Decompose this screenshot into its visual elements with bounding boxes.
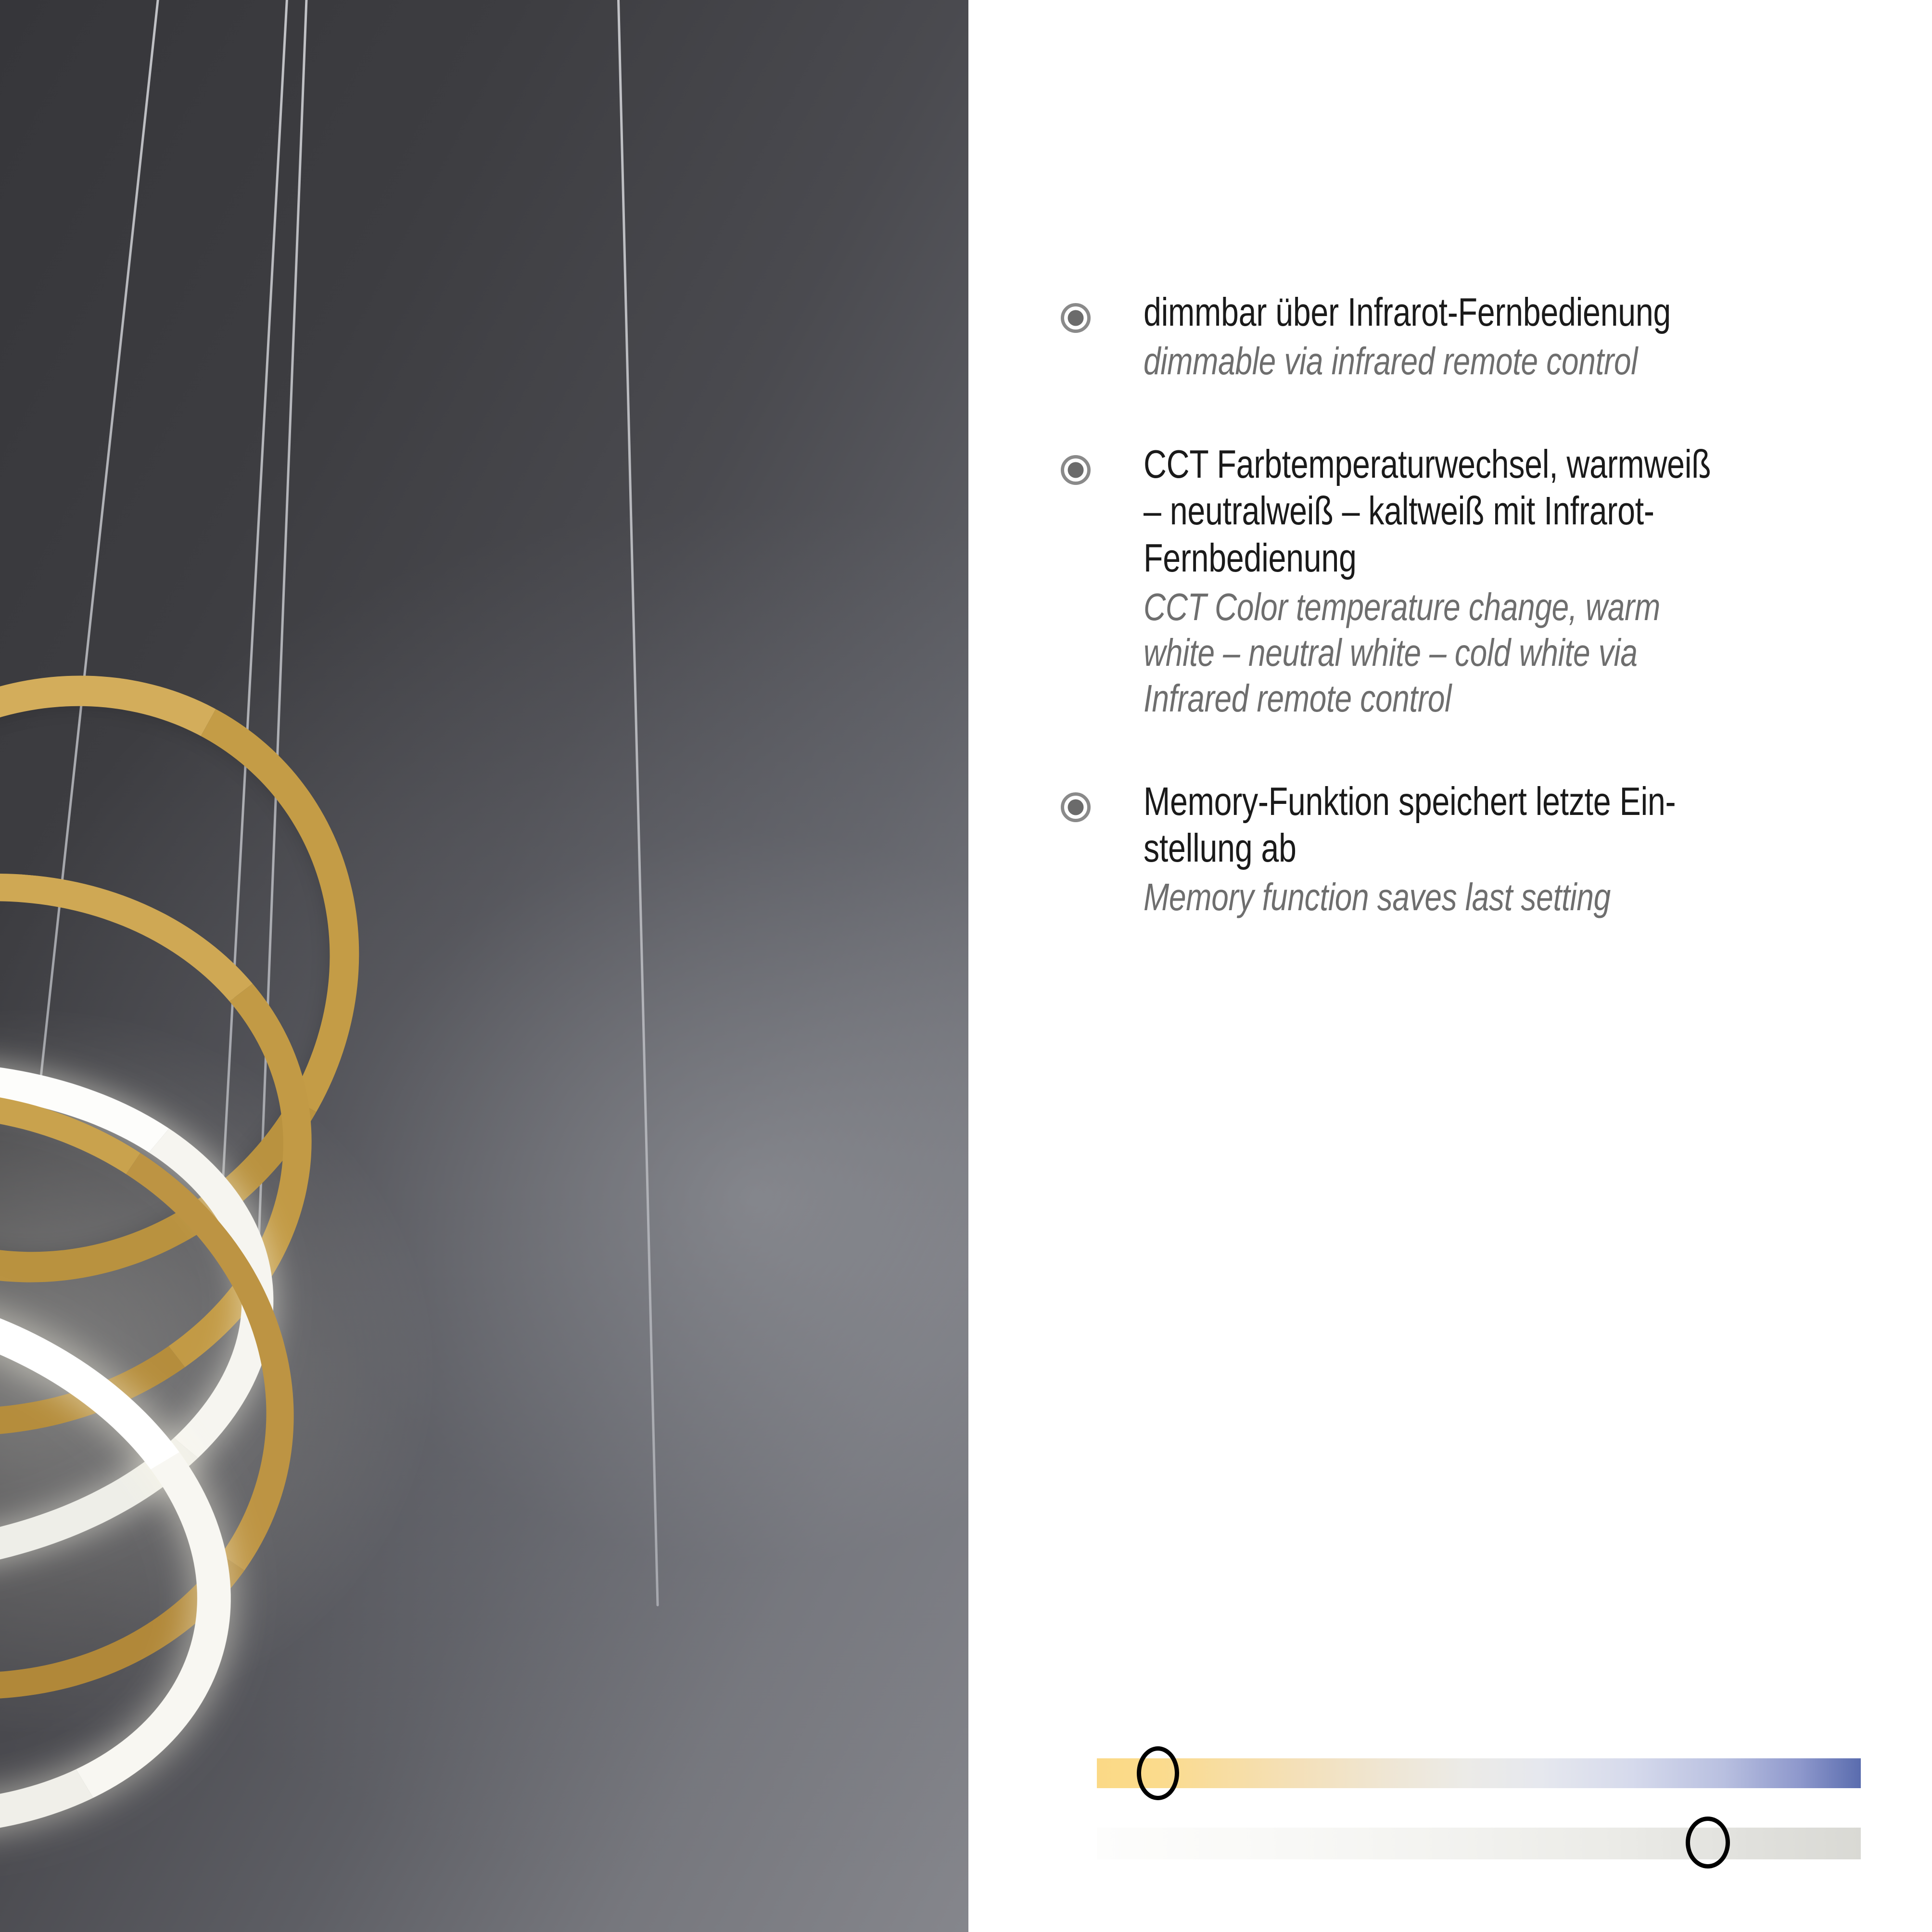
pendant-lamp-assembly (0, 664, 558, 1780)
ring-dot-bullet-icon (1061, 792, 1091, 822)
feature-text-panel: dimmbar über Infrarot-Fernbedienung dimm… (968, 0, 1932, 1932)
feature-item-cct: CCT Farbtemperaturwechsel, warmweiß – ne… (1061, 441, 1879, 721)
feature-text-en: CCT Color temperature change, warm white… (1144, 584, 1879, 722)
feature-text-de: dimmbar über Infrarot-Fernbedienung (1144, 289, 1879, 335)
brightness-slider-handle[interactable] (1686, 1817, 1730, 1868)
color-temperature-gradient-track[interactable] (1097, 1758, 1861, 1788)
brightness-gradient-track[interactable] (1097, 1828, 1861, 1859)
slider-group (1097, 1758, 1861, 1857)
suspension-cable (617, 0, 659, 1606)
feature-item-dimmable: dimmbar über Infrarot-Fernbedienung dimm… (1061, 289, 1879, 384)
feature-text-de: Memory-Funktion speichert letzte Ein- st… (1144, 778, 1879, 871)
feature-text-de: CCT Farbtemperaturwechsel, warmweiß – ne… (1144, 441, 1879, 581)
product-photo-panel (0, 0, 968, 1932)
feature-bullet-list: dimmbar über Infrarot-Fernbedienung dimm… (1061, 289, 1879, 920)
feature-text-en: dimmable via infrared remote control (1144, 338, 1879, 384)
feature-text-en: Memory function saves last setting (1144, 874, 1879, 920)
ring-dot-bullet-icon (1061, 455, 1091, 485)
brightness-slider[interactable] (1097, 1828, 1861, 1857)
product-feature-infographic: dimmbar über Infrarot-Fernbedienung dimm… (0, 0, 1932, 1932)
color-temperature-slider-handle[interactable] (1137, 1746, 1179, 1800)
feature-item-memory: Memory-Funktion speichert letzte Ein- st… (1061, 778, 1879, 920)
color-temperature-slider[interactable] (1097, 1758, 1861, 1788)
ring-dot-bullet-icon (1061, 303, 1091, 333)
